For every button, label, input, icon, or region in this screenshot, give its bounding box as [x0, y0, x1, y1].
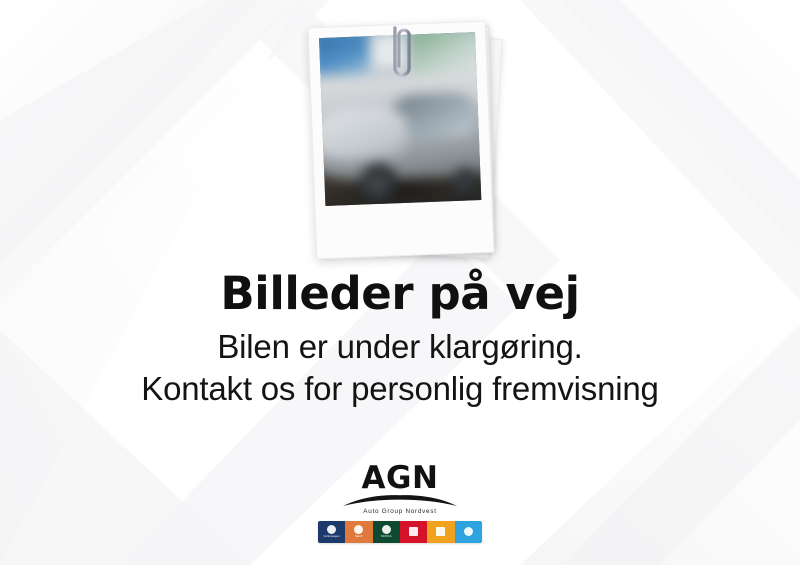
brand-logo-icon [464, 527, 473, 536]
brand-tile-brand4[interactable] [400, 521, 427, 543]
polaroid-caption-strip [316, 202, 494, 259]
logo-wordmark: AGN [312, 464, 488, 494]
paperclip-svg [385, 24, 419, 86]
agn-logo: AGN Auto Group Nordvest VolkswagenSEATŠK… [312, 464, 488, 543]
paperclip-icon [385, 24, 419, 86]
subtitle-line-2: Kontakt os for personlig fremvisning [0, 369, 800, 409]
brand-label: SEAT [355, 535, 363, 538]
seat-logo-icon [354, 525, 363, 534]
brand-tile-brand6[interactable] [455, 521, 482, 543]
brand-tile-seat[interactable]: SEAT [345, 521, 372, 543]
brand-tile-volkswagen[interactable]: Volkswagen [318, 521, 345, 543]
brand-bar: VolkswagenSEATŠKODA [318, 521, 482, 543]
brand-tile-brand5[interactable] [427, 521, 454, 543]
brand-label: Volkswagen [323, 535, 339, 538]
brand-tile-skoda[interactable]: ŠKODA [373, 521, 400, 543]
placeholder-image-canvas: Billeder på vej Bilen er under klargørin… [0, 0, 800, 565]
photo-car-hood [319, 107, 409, 162]
brand-label: ŠKODA [381, 535, 392, 538]
subtitle-line-1: Bilen er under klargøring. [0, 327, 800, 367]
headline-block: Billeder på vej Bilen er under klargørin… [0, 271, 800, 409]
logo-tagline: Auto Group Nordvest [312, 508, 488, 515]
brand-logo-icon [409, 527, 418, 536]
vw-logo-icon [327, 525, 336, 534]
skoda-logo-icon [382, 525, 391, 534]
brand-logo-icon [436, 527, 445, 536]
car-silhouette-swoosh-icon [341, 495, 459, 508]
photo-window-left [319, 32, 369, 75]
page-title: Billeder på vej [0, 271, 800, 318]
